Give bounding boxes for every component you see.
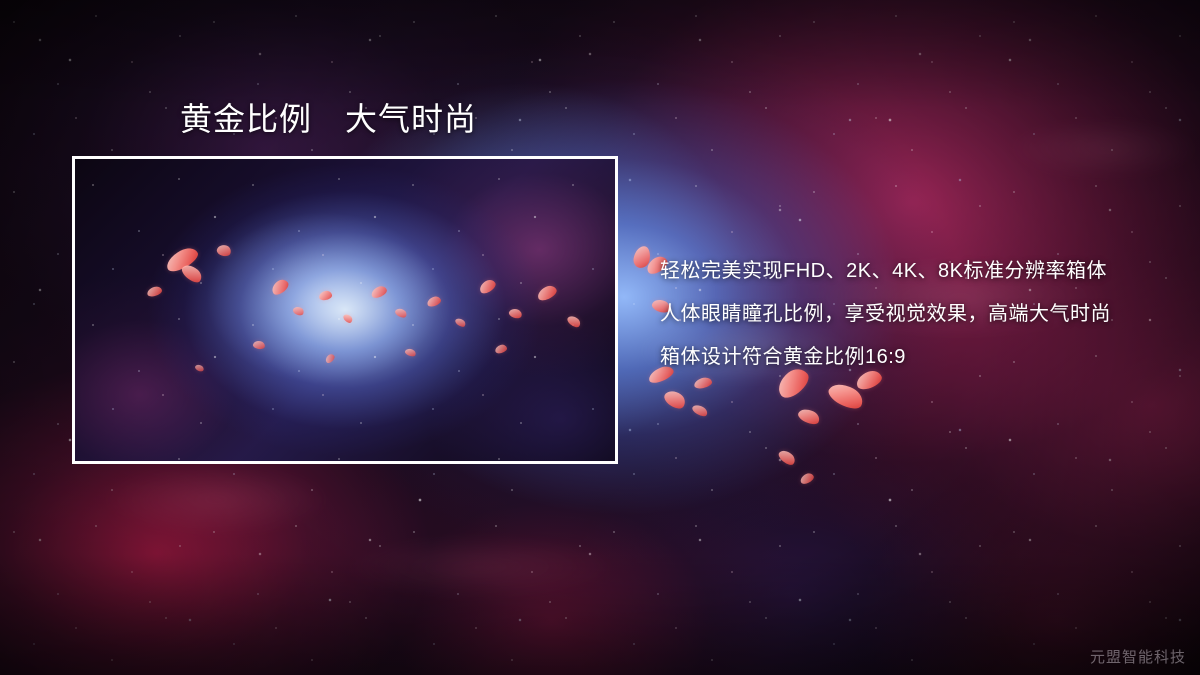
body-line-2: 人体眼睛瞳孔比例，享受视觉效果，高端大气时尚	[660, 293, 1160, 336]
petal-shape	[777, 448, 798, 468]
body-line-3: 箱体设计符合黄金比例16:9	[660, 336, 1160, 379]
petal-shape	[796, 406, 821, 427]
petal-shape	[632, 245, 652, 269]
body-line-1: 轻松完美实现FHD、2K、4K、8K标准分辨率箱体	[660, 250, 1160, 293]
framed-image-content	[75, 159, 615, 461]
framed-image-starfield	[75, 159, 615, 461]
petal-shape	[799, 471, 815, 485]
petal-shape	[825, 379, 866, 414]
petal-shape	[662, 387, 689, 412]
slide-body-text: 轻松完美实现FHD、2K、4K、8K标准分辨率箱体 人体眼睛瞳孔比例，享受视觉效…	[660, 250, 1160, 379]
presentation-slide: 黄金比例 大气时尚 轻松完美实现FHD、2K、4K、8K标准分辨率箱体 人体眼睛…	[0, 0, 1200, 675]
petal-shape	[691, 403, 709, 419]
slide-title: 黄金比例 大气时尚	[180, 100, 477, 138]
framed-product-image	[72, 156, 618, 464]
watermark-text: 元盟智能科技	[1090, 646, 1186, 667]
